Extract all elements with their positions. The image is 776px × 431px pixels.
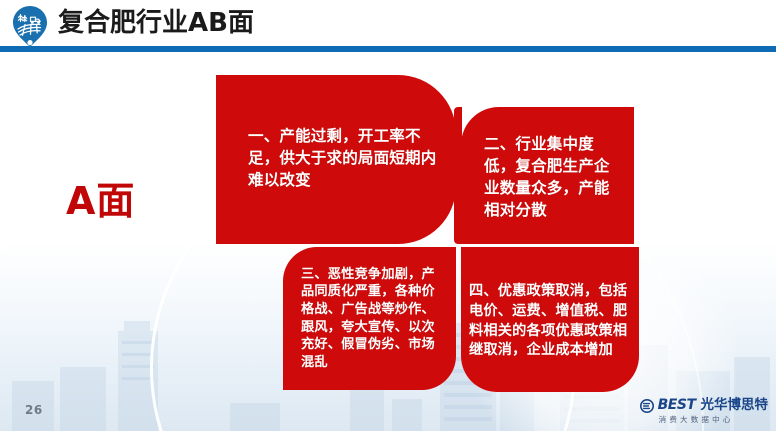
point-box-2-text: 二、行业集中度低，复合肥生产企业数量众多，产能相对分散 (484, 133, 624, 221)
point-box-1-text: 一、产能过剩，开工率不足，供大于求的局面短期内难以改变 (248, 125, 440, 191)
section-label-a: A面 (66, 178, 135, 224)
point-box-3-text: 三、恶性竞争加剧，产品同质化严重，各种价格战、广告战等炒作、跟风，夸大宣传、以次… (301, 266, 448, 371)
point-box-4-text: 四、优惠政策取消，包括电价、运费、增值税、肥料相关的各项优惠政策相继取消，企业成… (469, 282, 633, 360)
brand-watermark: BEST 光华博思特 消费大数据中心 (640, 398, 768, 425)
point-box-1[interactable]: 一、产能过剩，开工率不足，供大于求的局面短期内难以改变 (216, 75, 456, 244)
brand-name-en: BEST (658, 398, 696, 413)
brand-row: BEST 光华博思特 (640, 398, 768, 413)
slide-canvas: 复合肥行业AB面 一、产能过剩，开工率不足，供大于求的局面短期内难以改变 二、行… (0, 0, 776, 431)
point-box-3[interactable]: 三、恶性竞争加剧，产品同质化严重，各种价格战、广告战等炒作、跟风，夸大宣传、以次… (283, 247, 456, 390)
point-box-2[interactable]: 二、行业集中度低，复合肥生产企业数量众多，产能相对分散 (461, 107, 634, 244)
brand-tagline: 消费大数据中心 (659, 414, 734, 425)
brand-name-cn: 光华博思特 (701, 398, 769, 413)
point-box-4[interactable]: 四、优惠政策取消，包括电价、运费、增值税、肥料相关的各项优惠政策相继取消，企业成… (461, 247, 639, 392)
brand-logo-icon (640, 399, 654, 413)
page-number: 26 (25, 403, 43, 417)
